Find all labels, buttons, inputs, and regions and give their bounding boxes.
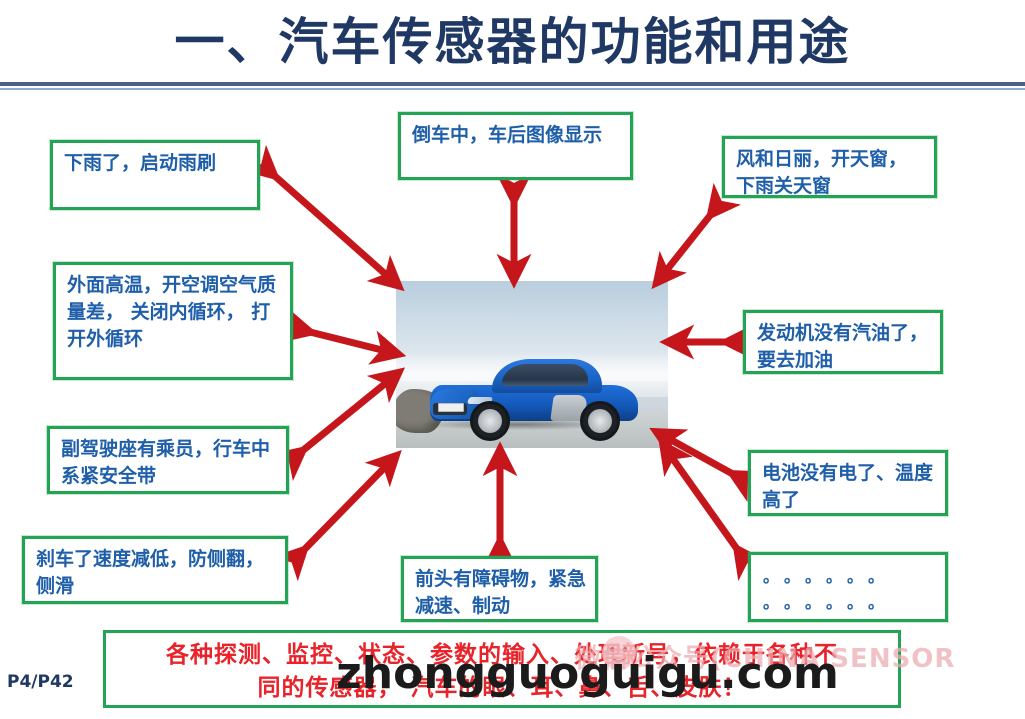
car-rear-wheel [580,401,620,441]
callout-battery-status[interactable]: 电池没有电了、温度高了 [748,450,948,516]
page-title: 一、汽车传感器的功能和用途 [0,12,1025,72]
callout-seat-occupancy[interactable]: 副驾驶座有乘员，行车中系紧安全带 [47,426,289,494]
header-divider-thin [0,88,1025,90]
callout-wiper[interactable]: 下雨了，启动雨刷 [50,140,260,210]
slide-canvas: 一、汽车传感器的功能和用途 [0,0,1025,719]
callout-ellipsis-placeholder[interactable]: 。。。。。。 。。。。。。 [748,552,948,622]
arrow-ac [302,330,390,352]
callout-fuel-level[interactable]: 发动机没有汽油了，要去加油 [743,310,943,374]
ellipsis-row-2: 。。。。。。 [763,590,933,616]
callout-reverse-camera[interactable]: 倒车中，车后图像显示 [398,112,633,180]
car-windshield [502,364,588,386]
arrow-seat [296,378,392,456]
wheel-rim [588,409,612,433]
center-car-photo [396,281,668,448]
watermark-site-url: zhongguoguigu.com [0,648,1025,699]
slide-header: 一、汽车传感器的功能和用途 [0,0,1025,92]
callout-braking-stability[interactable]: 刹车了速度减低，防侧翻，侧滑 [22,536,288,604]
arrow-brake [298,462,390,556]
arrow-sunroof [662,208,716,276]
arrow-dots [668,452,742,556]
header-divider-thick [0,82,1025,86]
callout-obstacle-detection[interactable]: 前头有障碍物，紧急减速、制动 [401,556,598,622]
arrow-battery [664,436,740,478]
car-front-wheel [470,401,510,441]
blue-sportscar [430,357,638,431]
car-license-plate [438,403,464,412]
wheel-rim [478,409,502,433]
ellipsis-row-1: 。。。。。。 [763,564,933,590]
callout-air-conditioning[interactable]: 外面高温，开空调空气质量差， 关闭内循环， 打开外循环 [53,262,293,380]
callout-sunroof[interactable]: 风和日丽，开天窗，下雨关天窗 [722,136,937,198]
